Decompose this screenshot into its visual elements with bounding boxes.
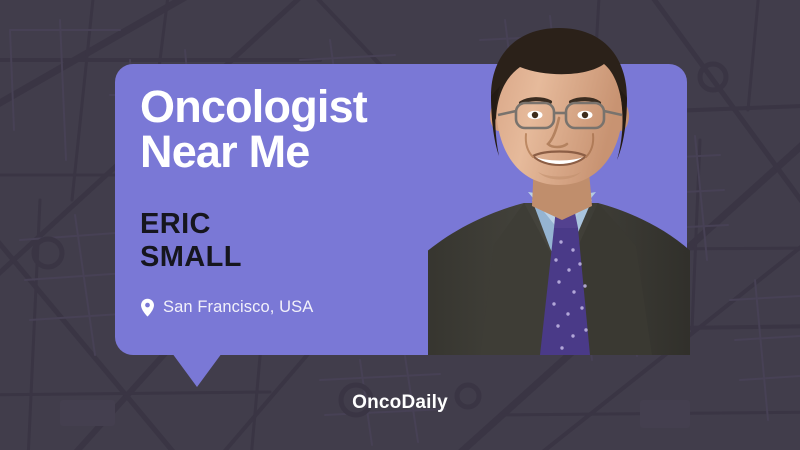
portrait-photo — [428, 20, 690, 355]
location-row: San Francisco, USA — [140, 274, 470, 317]
person-name: ERIC SMALL — [140, 174, 470, 274]
brand-logo-text: OncoDaily — [0, 392, 800, 414]
social-card-canvas: Oncologist Near Me ERIC SMALL San Franci… — [0, 0, 800, 450]
map-pin-icon — [140, 298, 155, 317]
speech-bubble-tail — [172, 353, 222, 387]
page-title: Oncologist Near Me — [140, 64, 470, 174]
card-content: Oncologist Near Me ERIC SMALL San Franci… — [140, 64, 470, 317]
location-text: San Francisco, USA — [163, 298, 313, 317]
